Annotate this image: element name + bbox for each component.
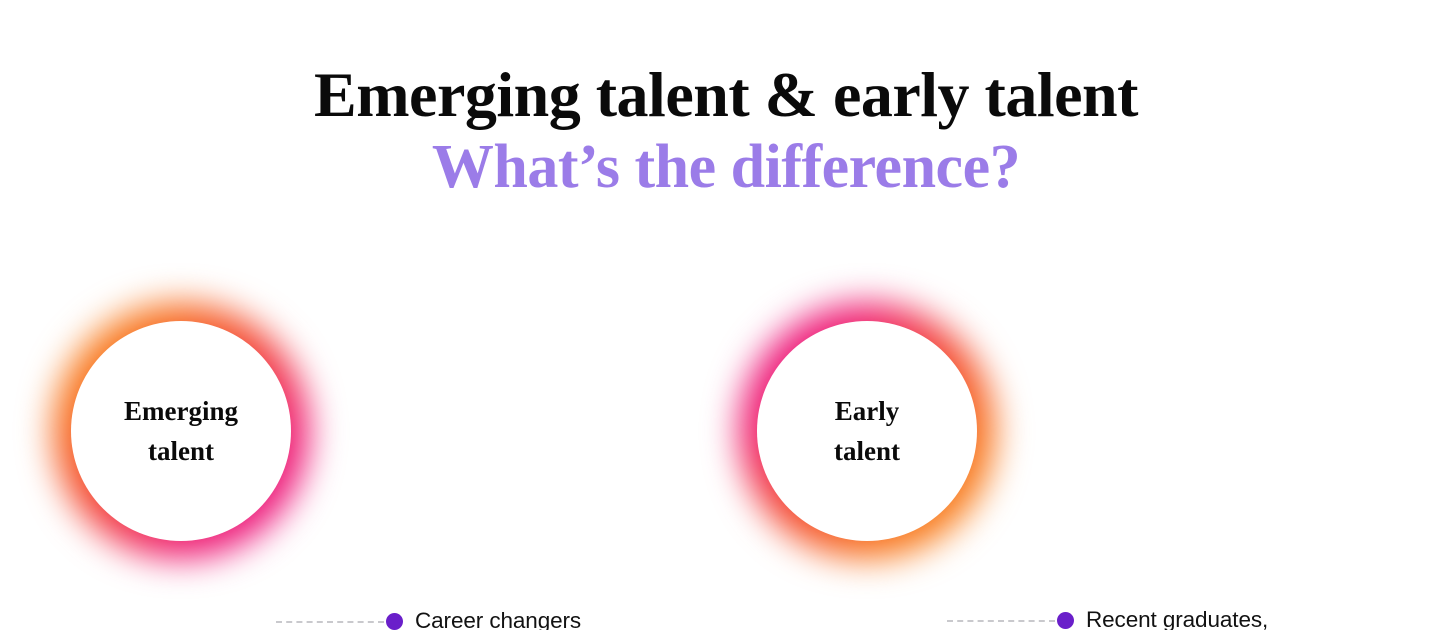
- leader-line-icon: [947, 620, 1055, 624]
- list-item: Recent graduates, apprentices, interns: [947, 606, 1427, 630]
- infographic-canvas: Emerging talent & early talent What’s th…: [0, 0, 1452, 630]
- circle-disc: Early talent: [757, 321, 977, 541]
- heading-block: Emerging talent & early talent What’s th…: [0, 58, 1452, 202]
- circle-label-emerging-talent: Emerging talent: [124, 391, 238, 471]
- page-subtitle: What’s the difference?: [0, 132, 1452, 202]
- leader-line-icon: [276, 621, 384, 625]
- circle-disc: Emerging talent: [71, 321, 291, 541]
- list-item-label: Recent graduates, apprentices, interns: [1086, 606, 1427, 630]
- bullet-dot-icon: [386, 613, 403, 630]
- list-item: Career changers: [276, 607, 736, 630]
- bullet-dot-icon: [1057, 612, 1074, 629]
- list-item-label: Career changers: [415, 607, 736, 630]
- bullet-list-early-talent: Recent graduates, apprentices, interns H…: [947, 286, 1427, 576]
- circle-label-early-talent: Early talent: [834, 391, 900, 471]
- bullet-list-emerging-talent: Career changers Workforce returners High…: [276, 286, 736, 576]
- page-title: Emerging talent & early talent: [0, 58, 1452, 132]
